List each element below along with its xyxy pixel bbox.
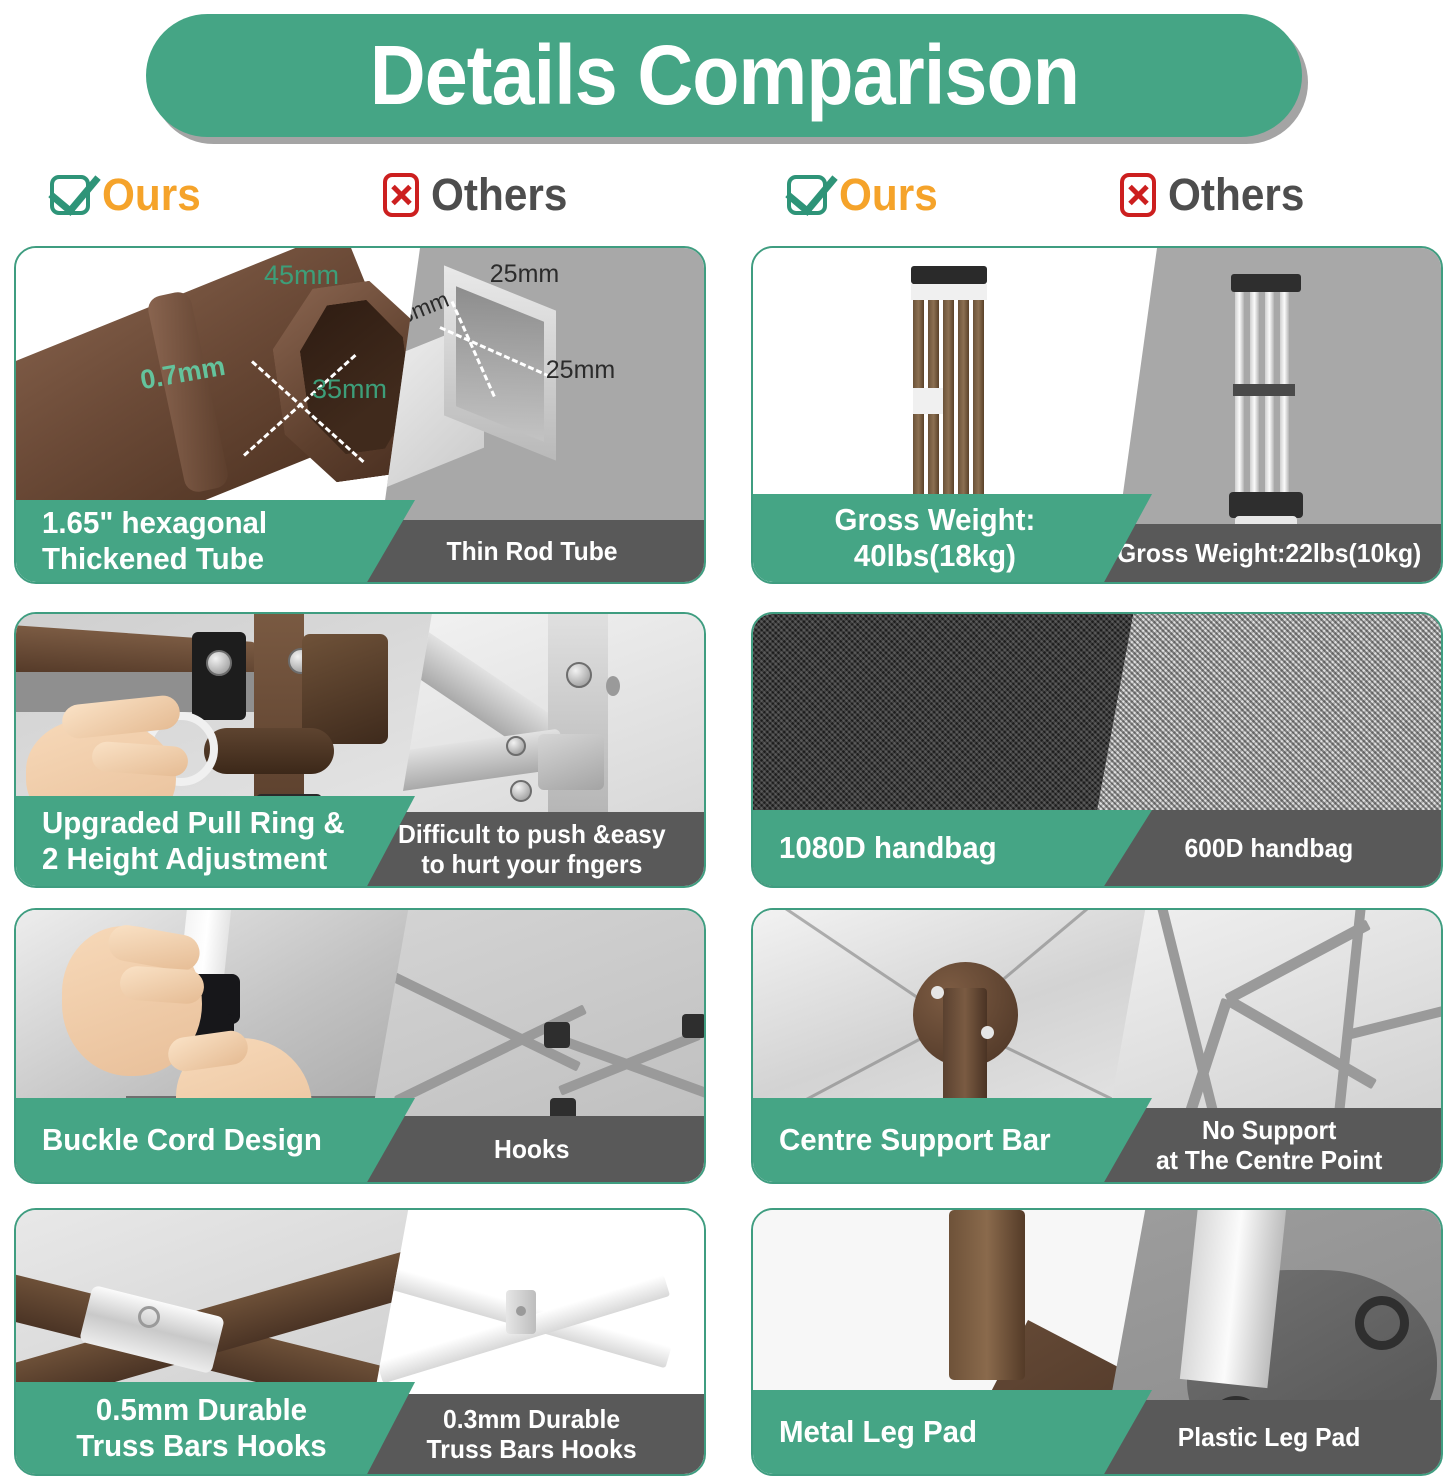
caption-others-pull-ring: Difficult to push &easy to hurt your fng…	[360, 812, 704, 886]
pad-ring-icon	[1355, 1296, 1409, 1350]
caption-others-text: Thin Rod Tube	[446, 536, 617, 566]
caption-others-text: Gross Weight:22lbs(10kg)	[1117, 538, 1421, 568]
caption-others-text: No Support at The Centre Point	[1156, 1115, 1382, 1176]
title-banner-shape: Details Comparison	[146, 14, 1302, 137]
column-header-right: Ours Others	[751, 160, 1443, 230]
caption-others-weight: Gross Weight:22lbs(10kg)	[1097, 524, 1441, 582]
ours-label: Ours	[839, 169, 938, 221]
frame-top-bracket	[911, 266, 987, 284]
others-label: Others	[1168, 169, 1304, 221]
frame-top-sleeve	[911, 284, 987, 300]
dim-25mm-top: 25mm	[490, 260, 559, 289]
pull-pin-housing	[204, 728, 334, 774]
truss-bar	[1154, 910, 1222, 1129]
bolt-icon	[566, 662, 592, 688]
panel-truss-bars: 0.5mm Durable Truss Bars Hooks 0.3mm Dur…	[14, 1208, 706, 1476]
frame-mid-bracket	[1233, 384, 1295, 396]
panel-handbag: 1080D handbag 600D handbag	[751, 612, 1443, 888]
header-ours-right: Ours	[787, 169, 944, 221]
hook-icon	[682, 1014, 704, 1038]
cross-mark-icon	[383, 173, 419, 217]
caption-others-handbag: 600D handbag	[1097, 810, 1441, 886]
header-ours-left: Ours	[50, 169, 207, 221]
caption-others-truss-bars: 0.3mm Durable Truss Bars Hooks	[360, 1394, 704, 1474]
frame-rod	[958, 268, 969, 520]
check-mark-icon	[787, 175, 827, 215]
others-label: Others	[431, 169, 567, 221]
frame-top-bracket	[1231, 274, 1301, 292]
frame-mid-sleeve	[913, 388, 943, 414]
caption-others-text: Hooks	[494, 1134, 569, 1164]
screw-icon	[981, 1026, 994, 1039]
finger	[119, 965, 205, 1005]
caption-others-centre-support: No Support at The Centre Point	[1097, 1108, 1441, 1182]
caption-others-text: Plastic Leg Pad	[1178, 1422, 1361, 1452]
caption-others-tube: Thin Rod Tube	[360, 520, 704, 582]
caption-ours-text: 0.5mm Durable Truss Bars Hooks	[42, 1392, 361, 1465]
bolt-icon	[206, 650, 232, 676]
frame-foot-bracket	[1229, 492, 1303, 518]
latch-block	[538, 734, 604, 790]
cross-mark-icon	[1120, 173, 1156, 217]
caption-ours-text: 1.65" hexagonal Thickened Tube	[42, 505, 267, 578]
dim-25mm-side: 25mm	[546, 356, 615, 385]
hook-icon	[544, 1022, 570, 1048]
panel-tube: 45mm 0.7mm 35mm 25mm 0.3mm 25mm 1.65" he…	[14, 246, 706, 584]
caption-others-leg-pad: Plastic Leg Pad	[1097, 1400, 1441, 1474]
panel-buckle: Buckle Cord Design Hooks	[14, 908, 706, 1184]
caption-others-text: 0.3mm Durable Truss Bars Hooks	[427, 1404, 637, 1465]
screw-icon	[931, 986, 944, 999]
caption-ours-text: Buckle Cord Design	[42, 1122, 322, 1158]
black-bracket	[192, 632, 246, 720]
caption-ours-weight: Gross Weight: 40lbs(18kg)	[753, 494, 1152, 582]
bolt-icon	[510, 780, 532, 802]
check-mark-icon	[50, 175, 90, 215]
panel-leg-pad: Metal Leg Pad Plastic Leg Pad	[751, 1208, 1443, 1476]
ours-label: Ours	[102, 169, 201, 221]
caption-ours-leg-pad: Metal Leg Pad	[753, 1390, 1152, 1474]
dim-45mm: 45mm	[264, 260, 339, 291]
caption-ours-text: Centre Support Bar	[779, 1122, 1051, 1158]
frame-rod	[973, 268, 984, 514]
caption-ours-text: Gross Weight: 40lbs(18kg)	[779, 502, 1091, 575]
caption-ours-text: 1080D handbag	[779, 830, 997, 866]
logo-icon	[138, 1306, 160, 1328]
leg-tube-brown	[949, 1210, 1025, 1380]
caption-ours-text: Metal Leg Pad	[779, 1414, 977, 1450]
caption-ours-tube: 1.65" hexagonal Thickened Tube	[16, 500, 415, 582]
rivet-icon	[516, 1306, 526, 1316]
panel-weight: Gross Weight: 40lbs(18kg) Gross Weight:2…	[751, 246, 1443, 584]
caption-others-text: Difficult to push &easy to hurt your fng…	[398, 819, 666, 880]
caption-ours-handbag: 1080D handbag	[753, 810, 1152, 886]
caption-ours-text: Upgraded Pull Ring & 2 Height Adjustment	[42, 805, 345, 878]
caption-ours-pull-ring: Upgraded Pull Ring & 2 Height Adjustment	[16, 796, 415, 886]
caption-ours-truss-bars: 0.5mm Durable Truss Bars Hooks	[16, 1382, 415, 1474]
caption-ours-centre-support: Centre Support Bar	[753, 1098, 1152, 1182]
column-header-left: Ours Others	[14, 160, 706, 230]
bolt-icon	[506, 736, 526, 756]
page-title-banner: Details Comparison	[146, 14, 1302, 137]
panel-centre-support: Centre Support Bar No Support at The Cen…	[751, 908, 1443, 1184]
page-title: Details Comparison	[369, 27, 1078, 124]
caption-others-text: 600D handbag	[1185, 833, 1354, 863]
panel-pull-ring: Upgraded Pull Ring & 2 Height Adjustment…	[14, 612, 706, 888]
header-others-left: Others	[383, 169, 576, 221]
dim-35mm: 35mm	[312, 374, 387, 405]
header-others-right: Others	[1120, 169, 1313, 221]
hole	[606, 676, 620, 696]
caption-ours-buckle: Buckle Cord Design	[16, 1098, 415, 1182]
caption-others-buckle: Hooks	[360, 1116, 704, 1182]
frame-rod	[943, 268, 954, 516]
truss-bar	[1346, 994, 1441, 1040]
